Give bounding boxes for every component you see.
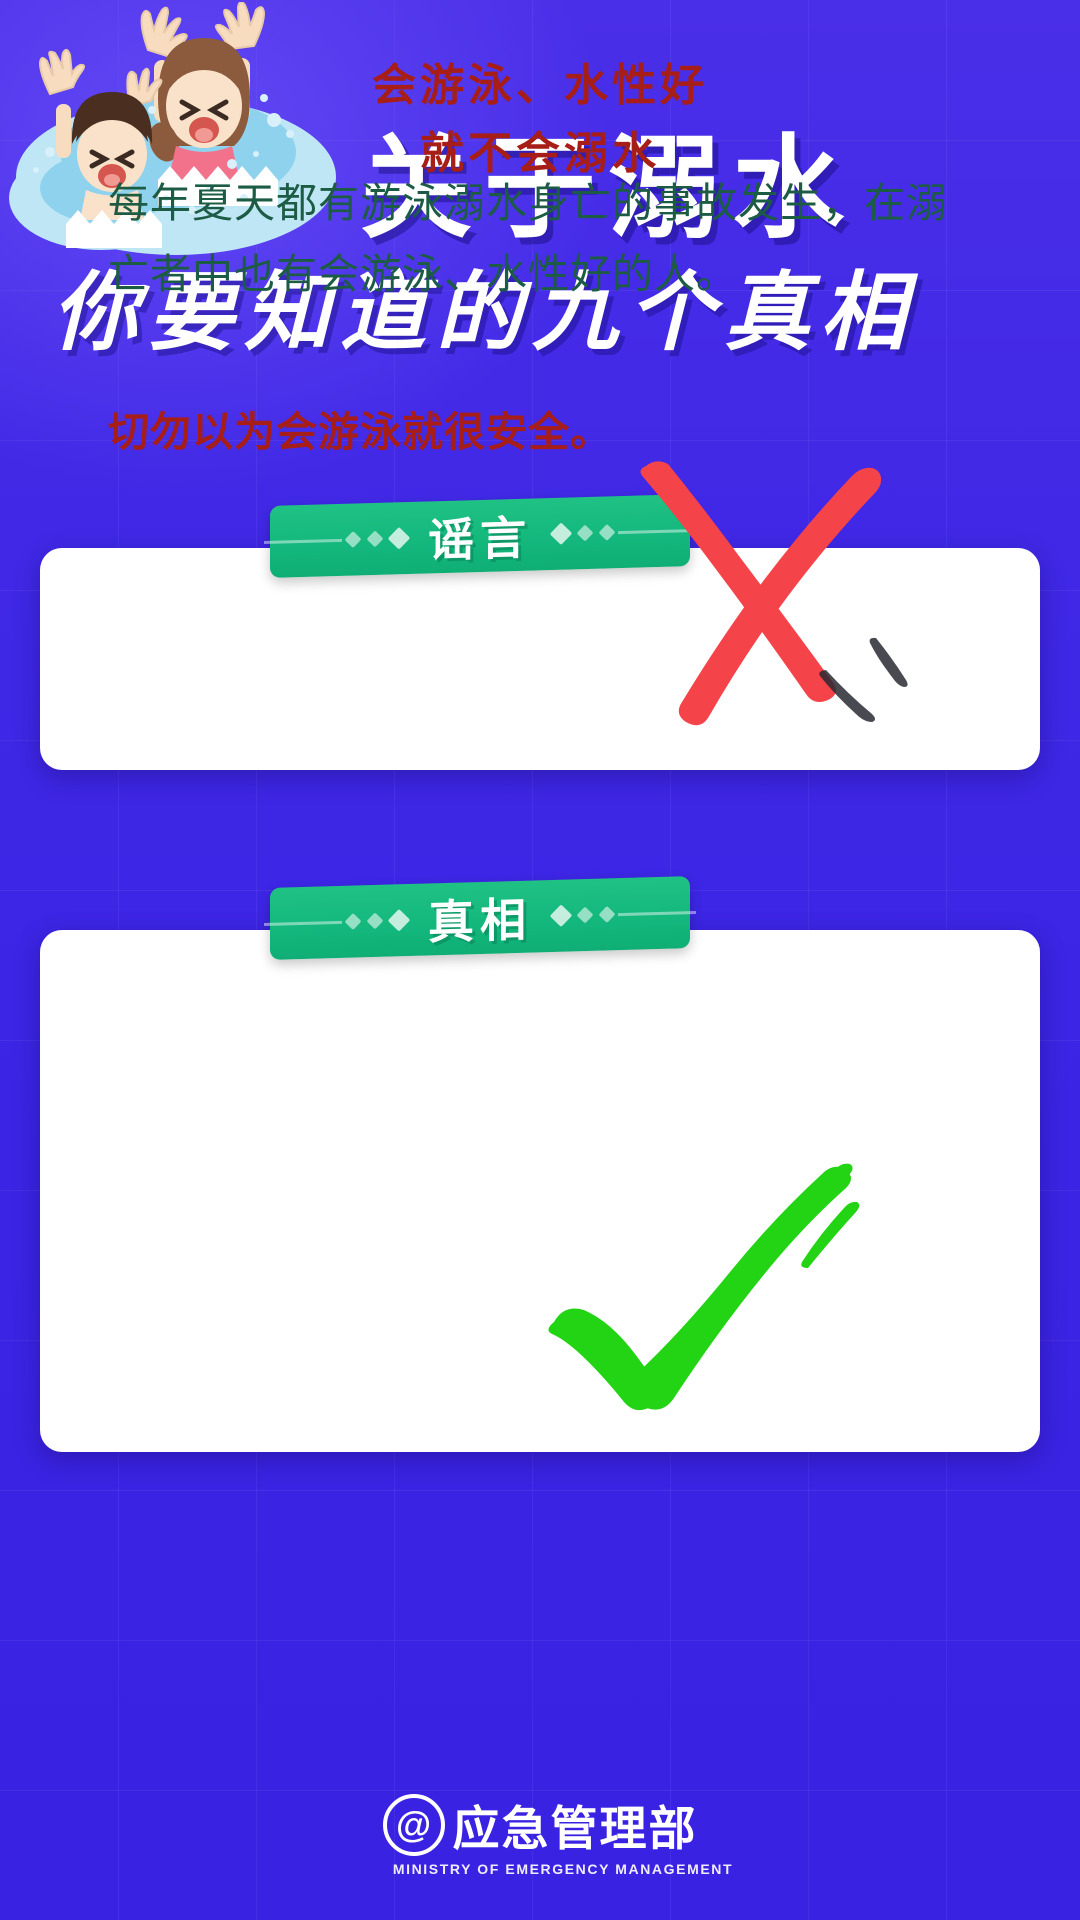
banner-decoration-left [264, 530, 412, 550]
at-sign-icon: @ [383, 1794, 445, 1856]
poster-root: 关于溺水 你要知道的九个真相 谣言 会游泳、水性好 就不会溺水 [0, 0, 1080, 1920]
ministry-name-en: MINISTRY OF EMERGENCY MANAGEMENT [393, 1861, 733, 1877]
truth-banner-label: 真相 [428, 884, 532, 953]
truth-paragraph: 每年夏天都有游泳溺水身亡的事故发生，在溺亡者中也有会游泳、水性好的人。 [108, 168, 984, 309]
myth-banner-label: 谣言 [428, 502, 532, 571]
red-x-icon [612, 440, 912, 740]
green-check-icon [540, 1140, 860, 1430]
banner-decoration-left [264, 912, 412, 932]
banner-decoration-right [548, 904, 696, 924]
truth-banner: 真相 [270, 876, 690, 960]
myth-line-1: 会游泳、水性好 [0, 52, 1080, 120]
ministry-name-cn: 应急管理部 [453, 1790, 698, 1859]
footer: @ 应急管理部 MINISTRY OF EMERGENCY MANAGEMENT [0, 1790, 1080, 1880]
ministry-logo: @ 应急管理部 [383, 1790, 698, 1859]
